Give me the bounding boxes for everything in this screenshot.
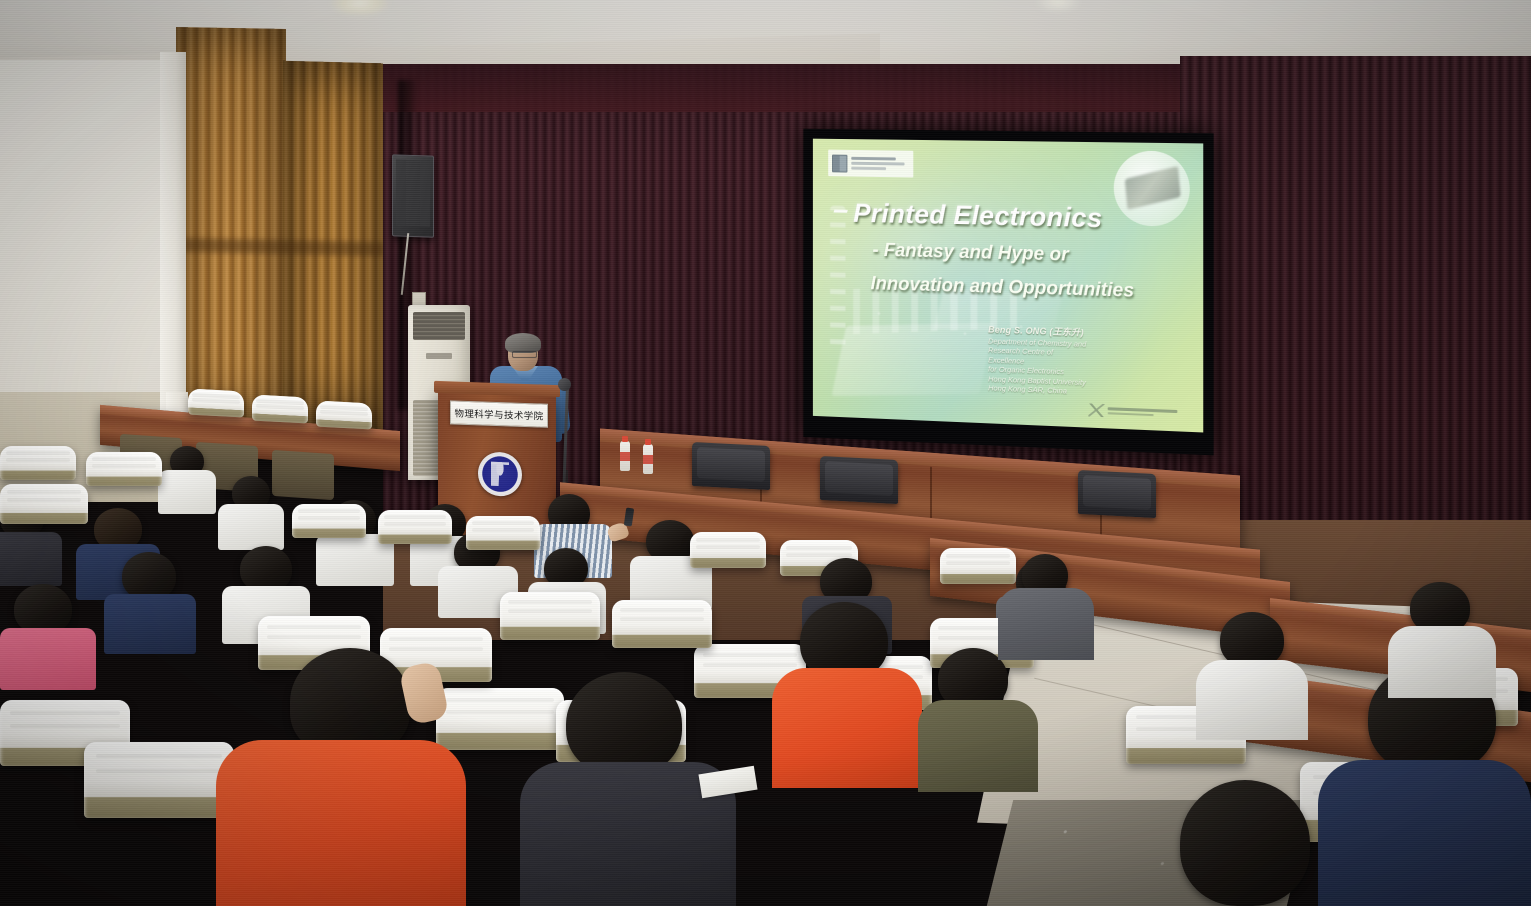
seat-back (272, 450, 334, 500)
audience-torso (158, 470, 216, 514)
seat-headrest (690, 532, 766, 568)
bottle-label (620, 452, 630, 461)
audience-torso (918, 700, 1038, 792)
stage-chair (820, 456, 898, 504)
lecture-hall-photo: Printed Electronics - Fantasy and Hype o… (0, 0, 1531, 906)
seat-headrest (0, 446, 76, 480)
bottle-label (643, 455, 653, 464)
stage-chair (1078, 470, 1156, 518)
speaker-hair (505, 333, 541, 353)
seat-headrest (316, 401, 372, 430)
water-bottle (643, 444, 653, 474)
slide-author-block: Beng S. ONG (王东升) Department of Chemistr… (988, 322, 1180, 400)
audience-torso (1196, 660, 1308, 740)
seat-headrest (0, 484, 88, 524)
seat-headrest (292, 504, 366, 538)
wall-speaker-icon (392, 154, 434, 237)
seat-headrest (252, 395, 308, 424)
audience-torso (104, 594, 196, 654)
slide-title-dash (833, 210, 847, 213)
slide-dot-column-graphic (830, 206, 845, 354)
device-photo-object (1125, 166, 1181, 210)
seat-headrest (612, 600, 712, 648)
stage-chair (692, 442, 770, 490)
seat-headrest (378, 510, 452, 544)
audience-torso (0, 628, 96, 690)
bottle-cap (622, 436, 628, 442)
speaker-grill (396, 159, 430, 226)
ac-brand-label (426, 353, 452, 359)
university-logo-text (1108, 407, 1187, 417)
projection-screen-frame: Printed Electronics - Fantasy and Hype o… (803, 129, 1213, 456)
seat-headrest (500, 592, 600, 640)
bottle-cap (645, 439, 651, 445)
seat-headrest (86, 452, 162, 486)
audience-head (122, 552, 176, 600)
book-logo-text (851, 157, 909, 171)
university-logo-mark (1088, 403, 1104, 417)
projection-screen: Printed Electronics - Fantasy and Hype o… (813, 139, 1203, 433)
slide-chip-graphic (832, 323, 995, 396)
water-bottle (620, 441, 630, 471)
book-logo-icon (828, 150, 913, 178)
seat-headrest (436, 688, 564, 750)
glasses-icon (512, 351, 537, 358)
audience-torso (772, 668, 922, 788)
audience-torso-orange-hoodie (216, 740, 466, 906)
audience-torso (0, 532, 62, 586)
university-emblem-icon (478, 451, 522, 497)
seat-headrest (940, 548, 1016, 584)
audience-torso (998, 588, 1094, 660)
seat-headrest (188, 389, 244, 418)
podium-sign: 物理科学与技术学院 (450, 400, 548, 427)
ac-vent-top (413, 312, 465, 340)
book-logo-mark (832, 154, 847, 172)
microphone-icon (558, 378, 571, 391)
audience-torso (1318, 760, 1531, 906)
audience-head-foreground (1180, 780, 1310, 906)
seat-headrest (466, 516, 540, 550)
audience-head-foreground (566, 672, 682, 776)
audience-torso (218, 504, 284, 550)
audience-head (14, 584, 72, 634)
seat-headrest (84, 742, 234, 818)
audience-torso (1388, 626, 1496, 698)
